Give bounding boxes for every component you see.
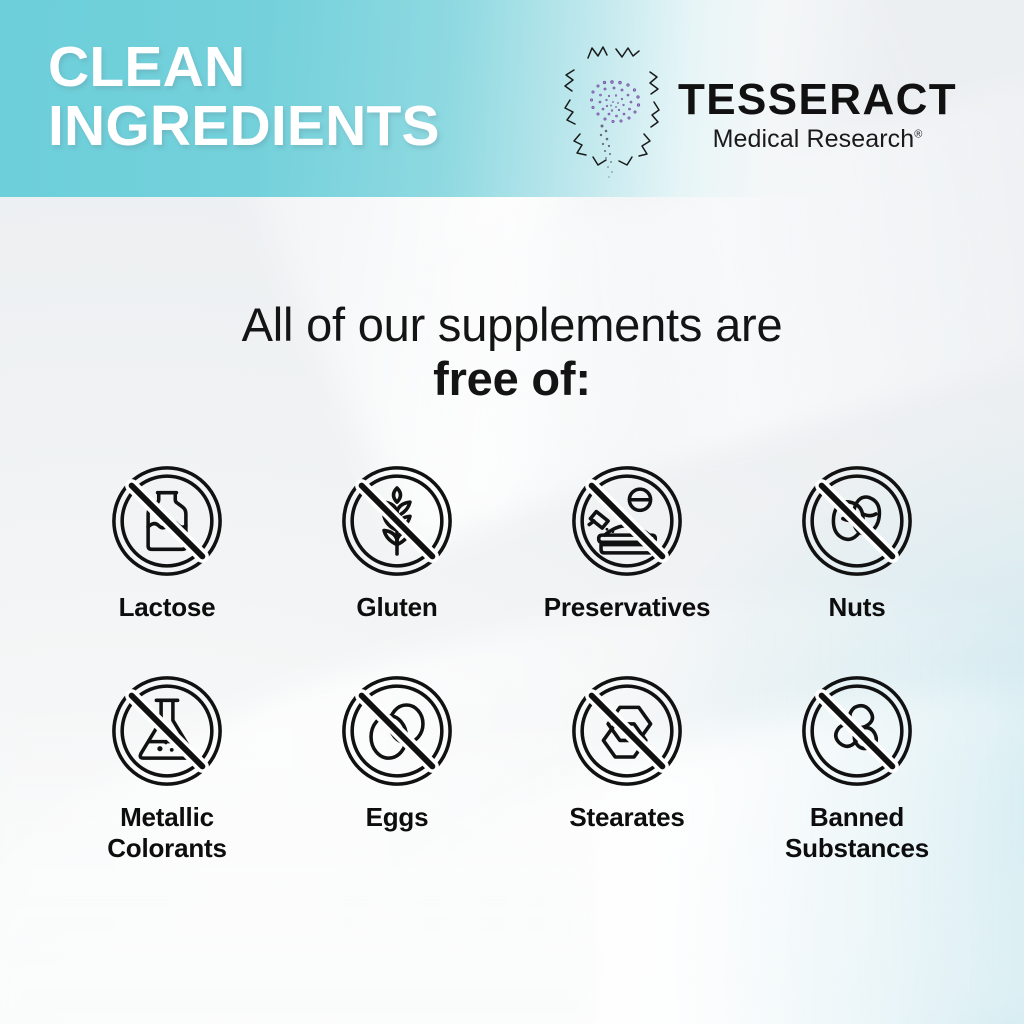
no-metallic-colorants-icon [108, 672, 226, 790]
no-gluten-icon [338, 462, 456, 580]
page-title: CLEAN INGREDIENTS [48, 38, 440, 155]
headline-line-2: free of: [0, 351, 1024, 407]
icon-label: Banned Substances [785, 802, 929, 865]
icon-label: Nuts [829, 592, 886, 624]
headline-line-1: All of our supplements are [0, 298, 1024, 351]
free-of-item-gluten: Gluten [282, 462, 512, 624]
no-eggs-icon [338, 672, 456, 790]
free-of-item-nuts: Nuts [742, 462, 972, 624]
free-of-item-lactose: Lactose [52, 462, 282, 624]
icon-grid-row: Metallic Colorants Eggs [0, 672, 1024, 865]
brand-wordmark: TESSERACT Medical Research® [678, 70, 957, 154]
free-of-item-preservatives: Preservatives [512, 462, 742, 624]
no-lactose-icon [108, 462, 226, 580]
brand-name: TESSERACT [678, 78, 957, 122]
free-of-item-metallic-colorants: Metallic Colorants [52, 672, 282, 865]
headline: All of our supplements are free of: [0, 298, 1024, 408]
spiral-vortex-logo-icon [558, 42, 666, 182]
brand-logo: TESSERACT Medical Research® [558, 42, 957, 182]
clean-ingredients-graphic: CLEAN INGREDIENTS [0, 0, 1024, 1024]
icon-label: Lactose [119, 592, 216, 624]
no-nuts-icon [798, 462, 916, 580]
free-of-item-banned-substances: Banned Substances [742, 672, 972, 865]
free-of-item-eggs: Eggs [282, 672, 512, 834]
no-stearates-icon [568, 672, 686, 790]
registered-trademark-icon: ® [914, 129, 922, 141]
icon-label: Stearates [569, 802, 684, 834]
header-band: CLEAN INGREDIENTS [0, 0, 1024, 197]
icon-label: Preservatives [544, 592, 711, 624]
no-preservatives-icon [568, 462, 686, 580]
icon-label: Gluten [356, 592, 437, 624]
brand-tagline: Medical Research [713, 125, 915, 153]
no-banned-substances-icon [798, 672, 916, 790]
icon-grid-row: Lactose [0, 462, 1024, 624]
free-of-icon-grid: Lactose [0, 462, 1024, 865]
free-of-item-stearates: Stearates [512, 672, 742, 834]
brand-tagline-wrap: Medical Research® [678, 126, 957, 154]
icon-label: Eggs [366, 802, 429, 834]
icon-label: Metallic Colorants [107, 802, 227, 865]
